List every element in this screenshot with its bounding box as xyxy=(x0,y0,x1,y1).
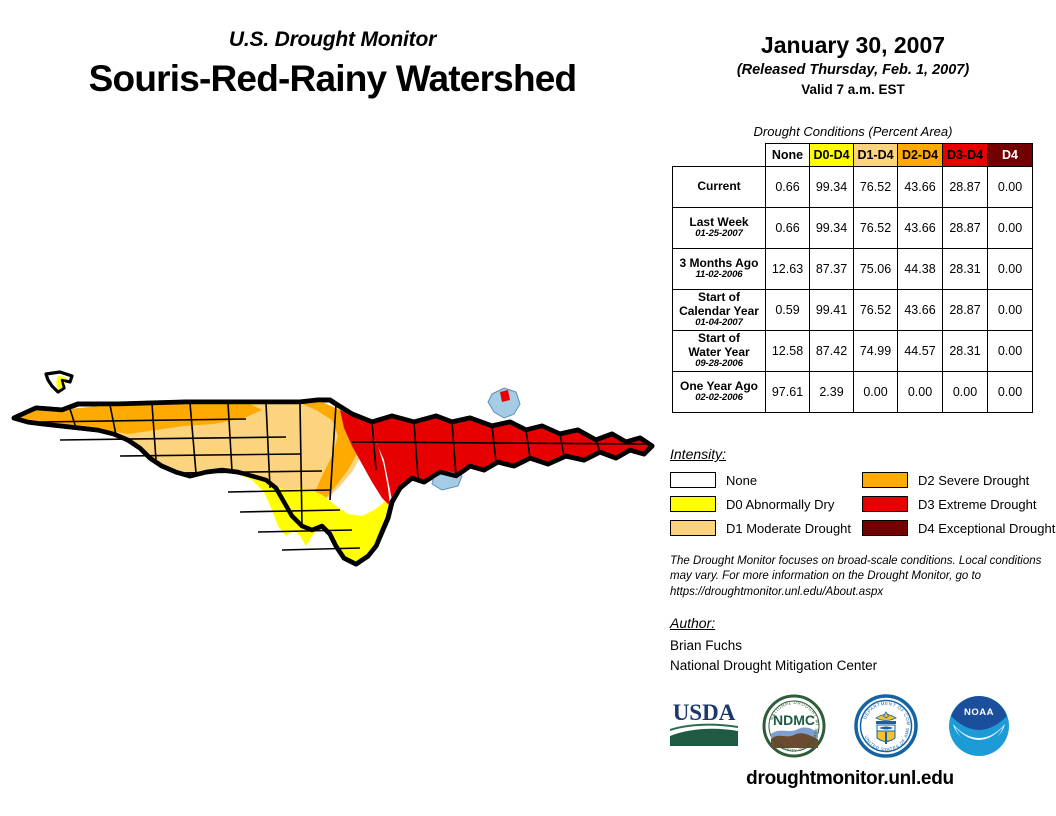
author-organization: National Drought Mitigation Center xyxy=(670,656,877,676)
table-cell: 43.66 xyxy=(898,290,943,331)
noaa-logo: NOAA xyxy=(947,694,1011,763)
usda-logo: USDA xyxy=(668,698,740,755)
product-label: U.S. Drought Monitor xyxy=(0,28,665,52)
table-caption: Drought Conditions (Percent Area) xyxy=(672,124,1034,139)
legend-swatch xyxy=(670,496,716,512)
table-col-header-d2-d4: D2-D4 xyxy=(898,144,943,167)
table-cell: 12.63 xyxy=(766,249,810,290)
row-period-name: One Year Ago xyxy=(680,379,758,393)
row-period-name: 3 Months Ago xyxy=(680,256,759,270)
row-period-name: Start ofWater Year xyxy=(688,331,749,359)
legend-swatch xyxy=(862,520,908,536)
legend-swatch xyxy=(670,472,716,488)
table-row: One Year Ago02-02-200697.612.390.000.000… xyxy=(673,372,1033,413)
map-detached-fragment xyxy=(46,372,72,392)
table-cell: 0.00 xyxy=(898,372,943,413)
ndmc-logo: NDMC NATIONAL DROUGHT MITIGATION CENTER … xyxy=(762,694,826,763)
table-cell: 0.00 xyxy=(988,167,1033,208)
table-cell: 76.52 xyxy=(854,208,898,249)
table-row-label: Last Week01-25-2007 xyxy=(673,208,766,249)
legend-label: D0 Abnormally Dry xyxy=(726,497,834,512)
legend-item: D3 Extreme Drought xyxy=(862,492,1055,516)
table-row-label: 3 Months Ago11-02-2006 xyxy=(673,249,766,290)
legend-column-right: D2 Severe DroughtD3 Extreme DroughtD4 Ex… xyxy=(862,468,1055,540)
table-row-label: Start ofWater Year09-28-2006 xyxy=(673,331,766,372)
table-cell: 0.66 xyxy=(766,167,810,208)
table-cell: 28.31 xyxy=(943,331,988,372)
table-corner-cell xyxy=(673,144,766,167)
table-cell: 0.00 xyxy=(988,290,1033,331)
table-body: Current0.6699.3476.5243.6628.870.00Last … xyxy=(673,167,1033,413)
title-block: U.S. Drought Monitor Souris-Red-Rainy Wa… xyxy=(0,28,665,100)
legend-item: D2 Severe Drought xyxy=(862,468,1055,492)
row-period-date: 11-02-2006 xyxy=(673,270,765,281)
table-row-label: Start ofCalendar Year01-04-2007 xyxy=(673,290,766,331)
issue-date: January 30, 2007 xyxy=(672,32,1034,59)
table-cell: 2.39 xyxy=(810,372,854,413)
page-title: Souris-Red-Rainy Watershed xyxy=(0,58,665,100)
row-period-name: Last Week xyxy=(689,215,748,229)
legend-item: D4 Exceptional Drought xyxy=(862,516,1055,540)
table-row: Last Week01-25-20070.6699.3476.5243.6628… xyxy=(673,208,1033,249)
legend-label: D3 Extreme Drought xyxy=(918,497,1037,512)
table-cell: 97.61 xyxy=(766,372,810,413)
legend-swatch xyxy=(862,496,908,512)
table-cell: 0.00 xyxy=(988,208,1033,249)
svg-text:NDMC: NDMC xyxy=(773,712,815,728)
author-name: Brian Fuchs xyxy=(670,636,877,656)
table-cell: 87.42 xyxy=(810,331,854,372)
table-cell: 99.34 xyxy=(810,208,854,249)
table-row: 3 Months Ago11-02-200612.6387.3775.0644.… xyxy=(673,249,1033,290)
logo-row: USDA NDMC NATIONAL DROUGHT MITIGATION CE… xyxy=(665,694,1035,760)
table-col-header-none: None xyxy=(766,144,810,167)
table-col-header-d4: D4 xyxy=(988,144,1033,167)
date-block: January 30, 2007 (Released Thursday, Feb… xyxy=(672,32,1034,97)
disclaimer-text: The Drought Monitor focuses on broad-sca… xyxy=(670,554,1045,600)
table-row: Start ofCalendar Year01-04-20070.5999.41… xyxy=(673,290,1033,331)
legend-label: D1 Moderate Drought xyxy=(726,521,851,536)
table-cell: 74.99 xyxy=(854,331,898,372)
table-cell: 43.66 xyxy=(898,167,943,208)
intensity-heading: Intensity: xyxy=(670,446,726,462)
table-cell: 0.59 xyxy=(766,290,810,331)
table-cell: 44.38 xyxy=(898,249,943,290)
table-cell: 0.00 xyxy=(854,372,898,413)
table-col-header-d0-d4: D0-D4 xyxy=(810,144,854,167)
legend-item: D0 Abnormally Dry xyxy=(670,492,851,516)
map-svg xyxy=(0,330,665,610)
table-cell: 28.87 xyxy=(943,167,988,208)
table-cell: 28.87 xyxy=(943,208,988,249)
table-cell: 99.41 xyxy=(810,290,854,331)
drought-map xyxy=(0,330,665,610)
table-cell: 0.00 xyxy=(988,331,1033,372)
table-header-row: NoneD0-D4D1-D4D2-D4D3-D4D4 xyxy=(673,144,1033,167)
table-row-label: One Year Ago02-02-2006 xyxy=(673,372,766,413)
author-heading: Author: xyxy=(670,615,715,631)
map-watershed xyxy=(14,388,652,564)
legend-column-left: NoneD0 Abnormally DryD1 Moderate Drought xyxy=(670,468,851,540)
svg-text:NOAA: NOAA xyxy=(964,707,994,718)
table-cell: 76.52 xyxy=(854,290,898,331)
table-cell: 0.66 xyxy=(766,208,810,249)
row-period-date: 02-02-2006 xyxy=(673,393,765,404)
svg-text:USDA: USDA xyxy=(673,700,736,725)
row-period-name: Current xyxy=(697,179,740,193)
table-cell: 28.87 xyxy=(943,290,988,331)
author-block: Brian Fuchs National Drought Mitigation … xyxy=(670,636,877,675)
legend-label: None xyxy=(726,473,757,488)
table-cell: 99.34 xyxy=(810,167,854,208)
table-cell: 43.66 xyxy=(898,208,943,249)
map-zone-d3 xyxy=(352,414,650,500)
released-date: (Released Thursday, Feb. 1, 2007) xyxy=(672,62,1034,78)
table-col-header-d1-d4: D1-D4 xyxy=(854,144,898,167)
table-cell: 0.00 xyxy=(988,249,1033,290)
row-period-date: 01-04-2007 xyxy=(673,318,765,329)
row-period-date: 01-25-2007 xyxy=(673,229,765,240)
table-row: Current0.6699.3476.5243.6628.870.00 xyxy=(673,167,1033,208)
valid-time: Valid 7 a.m. EST xyxy=(672,82,1034,97)
table-cell: 44.57 xyxy=(898,331,943,372)
commerce-logo: DEPARTMENT OF COMMERCE UNITED STATES OF … xyxy=(854,694,918,763)
legend-swatch xyxy=(862,472,908,488)
table-cell: 12.58 xyxy=(766,331,810,372)
table-row-label: Current xyxy=(673,167,766,208)
table-cell: 87.37 xyxy=(810,249,854,290)
site-url: droughtmonitor.unl.edu xyxy=(665,768,1035,790)
table-cell: 76.52 xyxy=(854,167,898,208)
table-col-header-d3-d4: D3-D4 xyxy=(943,144,988,167)
legend-item: None xyxy=(670,468,851,492)
table-cell: 0.00 xyxy=(943,372,988,413)
legend-label: D2 Severe Drought xyxy=(918,473,1029,488)
legend-item: D1 Moderate Drought xyxy=(670,516,851,540)
drought-conditions-table: NoneD0-D4D1-D4D2-D4D3-D4D4 Current0.6699… xyxy=(672,143,1033,413)
row-period-name: Start ofCalendar Year xyxy=(679,290,759,318)
table-cell: 0.00 xyxy=(988,372,1033,413)
legend-label: D4 Exceptional Drought xyxy=(918,521,1055,536)
legend-swatch xyxy=(670,520,716,536)
table-row: Start ofWater Year09-28-200612.5887.4274… xyxy=(673,331,1033,372)
table-cell: 75.06 xyxy=(854,249,898,290)
row-period-date: 09-28-2006 xyxy=(673,359,765,370)
table-cell: 28.31 xyxy=(943,249,988,290)
